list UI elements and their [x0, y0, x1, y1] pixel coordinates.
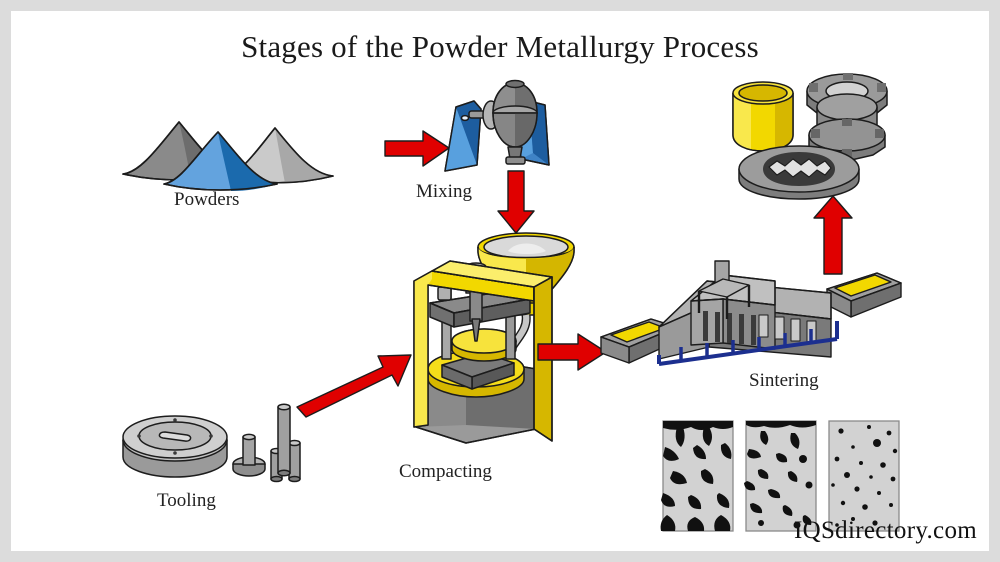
- page-title: Stages of the Powder Metallurgy Process: [11, 29, 989, 65]
- punch-short-wide: [233, 434, 265, 476]
- microstructure-panel-loose: [661, 421, 733, 531]
- arrow-sintering-to-parts: [811, 194, 855, 276]
- microstructure-panel-partial: [744, 421, 816, 531]
- stage-label-mixing: Mixing: [416, 181, 472, 203]
- internal-gear-ring: [739, 146, 859, 199]
- die-body: [123, 416, 227, 477]
- powders-illustration: [121, 106, 341, 191]
- stage-label-sintering: Sintering: [749, 370, 819, 392]
- image-border: Stages of the Powder Metallurgy Process: [0, 0, 1000, 562]
- stage-label-powders: Powders: [174, 189, 239, 211]
- finished-parts-illustration: [721, 63, 896, 188]
- infographic-canvas: Stages of the Powder Metallurgy Process: [11, 11, 989, 551]
- stage-label-compacting: Compacting: [399, 461, 492, 483]
- sintering-illustration: [599, 261, 904, 371]
- arrow-tooling-to-compacting: [293, 341, 418, 421]
- arrow-mixing-to-compacting: [495, 169, 537, 235]
- arrow-compacting-to-sintering: [536, 331, 608, 373]
- yellow-bushing: [733, 82, 793, 151]
- outfeed-conveyor: [827, 273, 901, 317]
- microstructure-panel-dense: [829, 421, 899, 531]
- watermark: IQSdirectory.com: [794, 517, 977, 545]
- stage-label-tooling: Tooling: [157, 490, 216, 512]
- tooling-illustration: [119, 407, 299, 487]
